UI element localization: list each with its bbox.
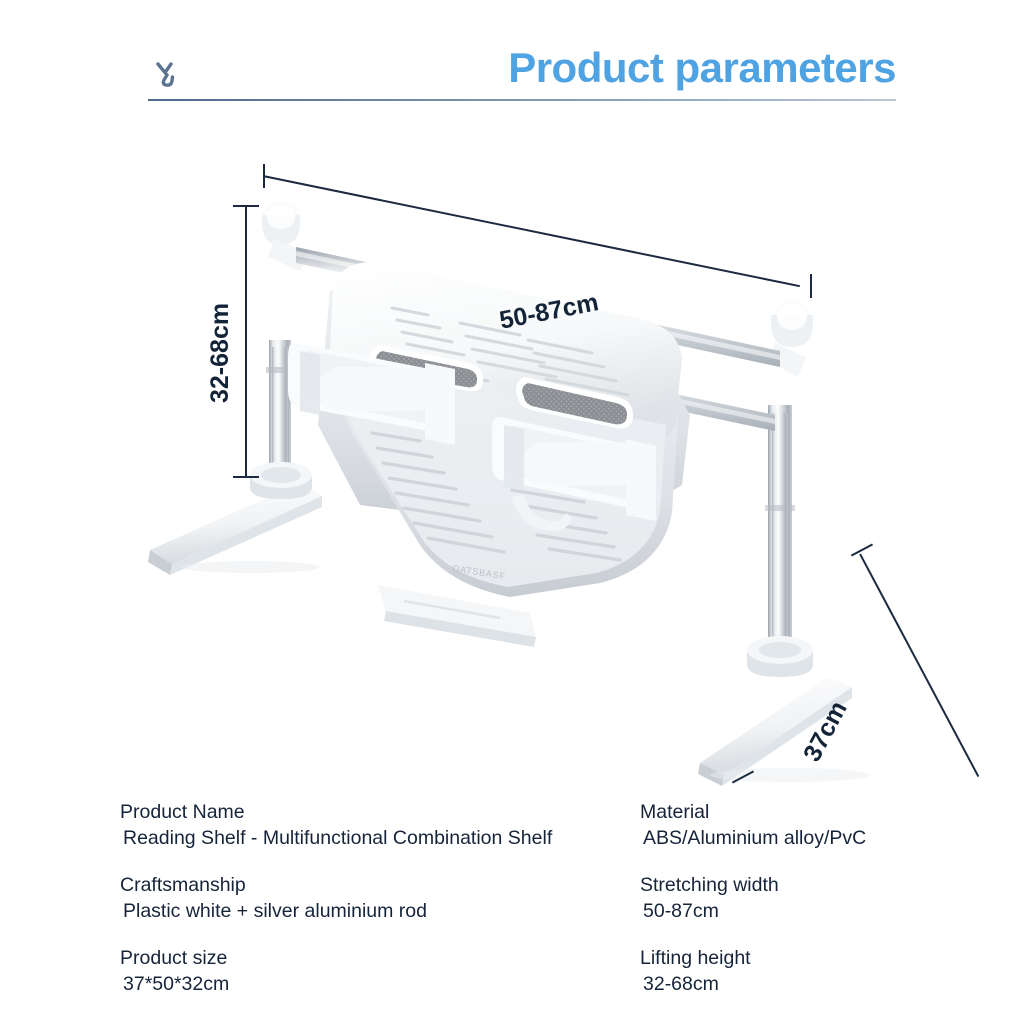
spec-value: 50-87cm — [640, 898, 1024, 924]
dimension-width-cap-start — [263, 164, 265, 188]
header-divider — [148, 99, 896, 101]
dimension-width-line — [263, 175, 800, 287]
page-header: Product parameters — [0, 0, 1024, 115]
spec-row-product-name: Product Name Reading Shelf - Multifuncti… — [120, 800, 590, 851]
dimension-height-cap-bottom — [233, 476, 259, 478]
spec-row-lifting-height: Lifting height 32-68cm — [640, 946, 1024, 997]
spec-value: 37*50*32cm — [120, 971, 590, 997]
spec-value: ABS/Aluminium alloy/PvC — [640, 825, 1024, 851]
spec-key: Product size — [120, 946, 590, 971]
spec-row-craftsmanship: Craftsmanship Plastic white + silver alu… — [120, 873, 590, 924]
dimension-width-cap-end — [810, 274, 812, 298]
spec-key: Material — [640, 800, 1024, 825]
spec-row-stretching-width: Stretching width 50-87cm — [640, 873, 1024, 924]
spec-key: Stretching width — [640, 873, 1024, 898]
ribbon-swirl-icon — [152, 58, 186, 92]
dimension-height-cap-top — [233, 205, 259, 207]
dimension-height-line — [245, 205, 247, 478]
dimension-height-label: 32-68cm — [206, 303, 235, 403]
dimension-width — [263, 175, 811, 290]
spec-key: Craftsmanship — [120, 873, 590, 898]
specs-column-right: Material ABS/Aluminium alloy/PvC Stretch… — [640, 800, 1024, 1019]
spec-value: Reading Shelf - Multifunctional Combinat… — [120, 825, 590, 851]
specs-column-left: Product Name Reading Shelf - Multifuncti… — [120, 800, 590, 1019]
dimension-depth — [742, 543, 1002, 783]
product-parameters-page: Product parameters — [0, 0, 1024, 1024]
specifications-table: Product Name Reading Shelf - Multifuncti… — [0, 800, 1024, 1024]
dimension-depth-line — [859, 554, 979, 778]
spec-row-material: Material ABS/Aluminium alloy/PvC — [640, 800, 1024, 851]
spec-key: Lifting height — [640, 946, 1024, 971]
spec-key: Product Name — [120, 800, 590, 825]
spec-value: Plastic white + silver aluminium rod — [120, 898, 590, 924]
product-diagram: OATSBASF — [0, 115, 1024, 795]
page-title: Product parameters — [508, 44, 896, 92]
spec-value: 32-68cm — [640, 971, 1024, 997]
spec-row-product-size: Product size 37*50*32cm — [120, 946, 590, 997]
